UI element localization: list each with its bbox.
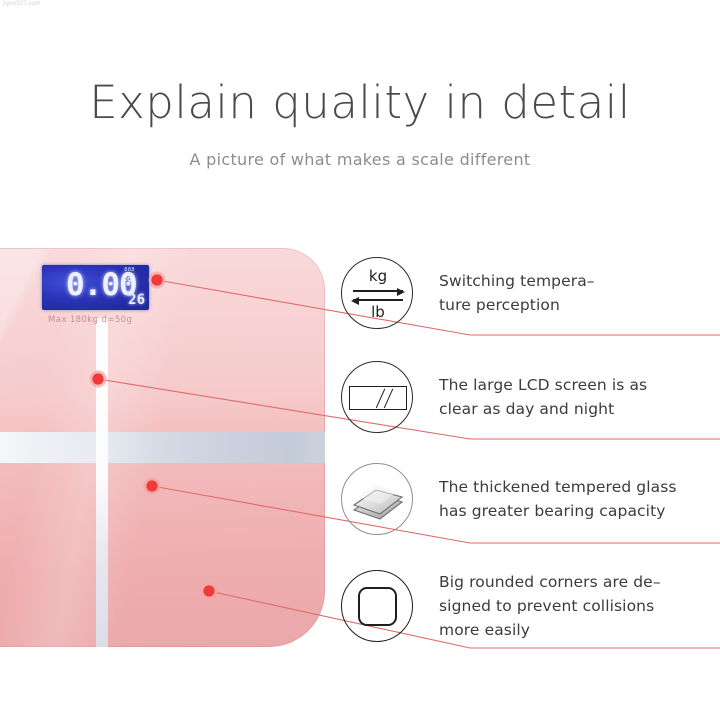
feature-line: ture perception xyxy=(439,293,595,317)
shine-slash-icon xyxy=(384,389,393,409)
lcd-secondary-reading: 26 xyxy=(128,292,145,308)
lcd-display: 888 0.00 kg 26 xyxy=(42,265,149,310)
rounded-square-glyph xyxy=(358,587,397,626)
lcd-unit-label: kg xyxy=(122,275,132,283)
infographic-canvas: jiyun027.com Explain quality in detail A… xyxy=(0,0,720,720)
arrow-left-icon xyxy=(353,299,403,301)
feature-row: kg lb Switching tempera– ture perception xyxy=(341,250,720,336)
page-title: Explain quality in detail xyxy=(0,76,720,129)
page-subtitle: A picture of what makes a scale differen… xyxy=(0,150,720,169)
feature-line: more easily xyxy=(439,618,661,642)
feature-row: The thickened tempered glass has greater… xyxy=(341,459,720,539)
scale-capacity-label: Max 180kg d=50g xyxy=(48,315,132,325)
glass-layers-glyph xyxy=(342,464,414,536)
tempered-glass-layers-icon xyxy=(341,463,413,535)
feature-description: Switching tempera– ture perception xyxy=(439,269,595,317)
feature-description: Big rounded corners are de– signed to pr… xyxy=(439,570,661,642)
lb-label: lb xyxy=(342,303,414,321)
kg-label: kg xyxy=(342,267,414,285)
feature-line: Big rounded corners are de– xyxy=(439,570,661,594)
feature-row: Big rounded corners are de– signed to pr… xyxy=(341,560,720,652)
feature-line: Switching tempera– xyxy=(439,269,595,293)
feature-line: clear as day and night xyxy=(439,397,647,421)
lcd-screen-icon xyxy=(341,361,413,433)
feature-line: signed to prevent collisions xyxy=(439,594,661,618)
feature-row: The large LCD screen is as clear as day … xyxy=(341,356,720,438)
arrow-right-icon xyxy=(353,290,403,292)
scale-horizontal-band xyxy=(0,432,325,463)
watermark-text: jiyun027.com xyxy=(3,1,41,7)
feature-description: The large LCD screen is as clear as day … xyxy=(439,373,647,421)
feature-line: has greater bearing capacity xyxy=(439,499,677,523)
kg-lb-exchange-icon: kg lb xyxy=(341,257,413,329)
feature-line: The thickened tempered glass xyxy=(439,475,677,499)
feature-description: The thickened tempered glass has greater… xyxy=(439,475,677,523)
rounded-corner-icon xyxy=(341,570,413,642)
scale-vertical-stripe xyxy=(96,318,108,647)
product-scale-body: 888 0.00 kg 26 Max 180kg d=50g xyxy=(0,248,325,647)
feature-line: The large LCD screen is as xyxy=(439,373,647,397)
screen-outline xyxy=(349,386,407,410)
